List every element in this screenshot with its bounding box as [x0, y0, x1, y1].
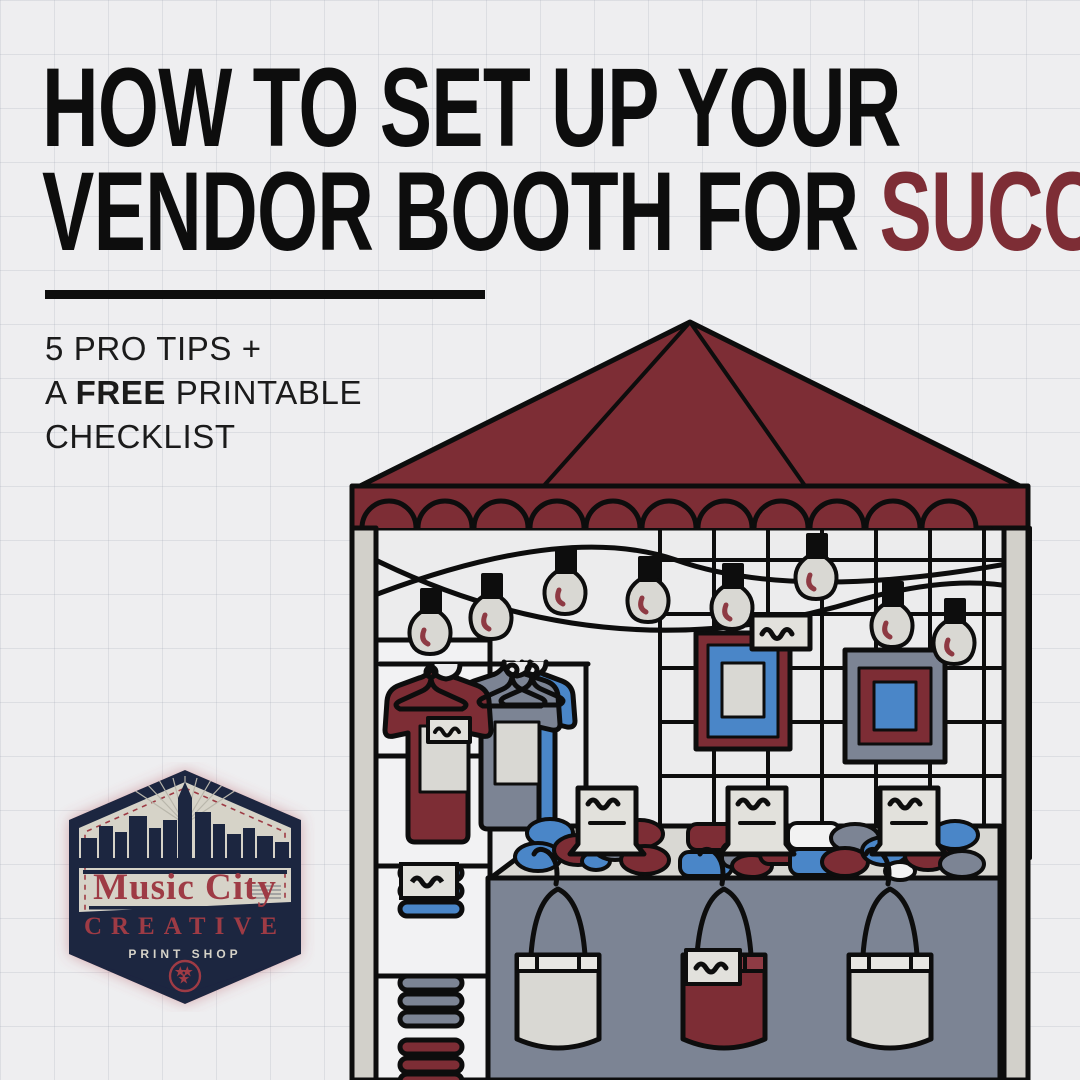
- logo-name-line-1: Music City: [93, 867, 277, 908]
- sign-card-shirt: [428, 718, 470, 742]
- subheadline-prefix: A: [45, 374, 76, 411]
- logo-tagline: PRINT SHOP: [128, 947, 241, 961]
- headline-divider-rule: [45, 290, 485, 299]
- headline-block: HOW TO SET UP YOUR VENDOR BOOTH FOR SUCC…: [42, 56, 1072, 264]
- subheadline-free-emphasis: FREE: [76, 374, 166, 411]
- poster-canvas: HOW TO SET UP YOUR VENDOR BOOTH FOR SUCC…: [0, 0, 1080, 1080]
- sign-card-tote: [686, 950, 740, 984]
- sign-card-gridwall: [752, 615, 810, 649]
- sign-card-table-1: [570, 788, 644, 854]
- headline-line-2-plain: VENDOR BOOTH FOR: [42, 149, 879, 274]
- shelf-sign-card: [401, 864, 457, 898]
- tent-leg-right: [1004, 528, 1028, 1080]
- headline-line-1: HOW TO SET UP YOUR: [42, 56, 763, 160]
- sign-card-table-2: [720, 788, 794, 854]
- headline-accent-success: SUCCESS: [879, 149, 1080, 274]
- subheadline-line-3: CHECKLIST: [45, 415, 362, 459]
- subheadline-suffix: PRINTABLE: [166, 374, 362, 411]
- subheadline-block: 5 PRO TIPS + A FREE PRINTABLE CHECKLIST: [45, 327, 362, 459]
- subheadline-line-1: 5 PRO TIPS +: [45, 327, 362, 371]
- tent-leg-left: [352, 528, 376, 1080]
- sign-card-table-3: [872, 788, 946, 854]
- tent-canopy: [352, 322, 1028, 528]
- framed-print-right: [845, 650, 945, 762]
- logo-name-line-2: CREATIVE: [84, 913, 286, 940]
- folded-shirts-red: [400, 1040, 462, 1080]
- folded-shirts-gray: [400, 976, 462, 1026]
- headline-line-2: VENDOR BOOTH FOR SUCCESS: [42, 160, 763, 264]
- subheadline-line-2: A FREE PRINTABLE: [45, 371, 362, 415]
- music-city-creative-logo: Music City CREATIVE PRINT SHOP: [55, 762, 315, 1012]
